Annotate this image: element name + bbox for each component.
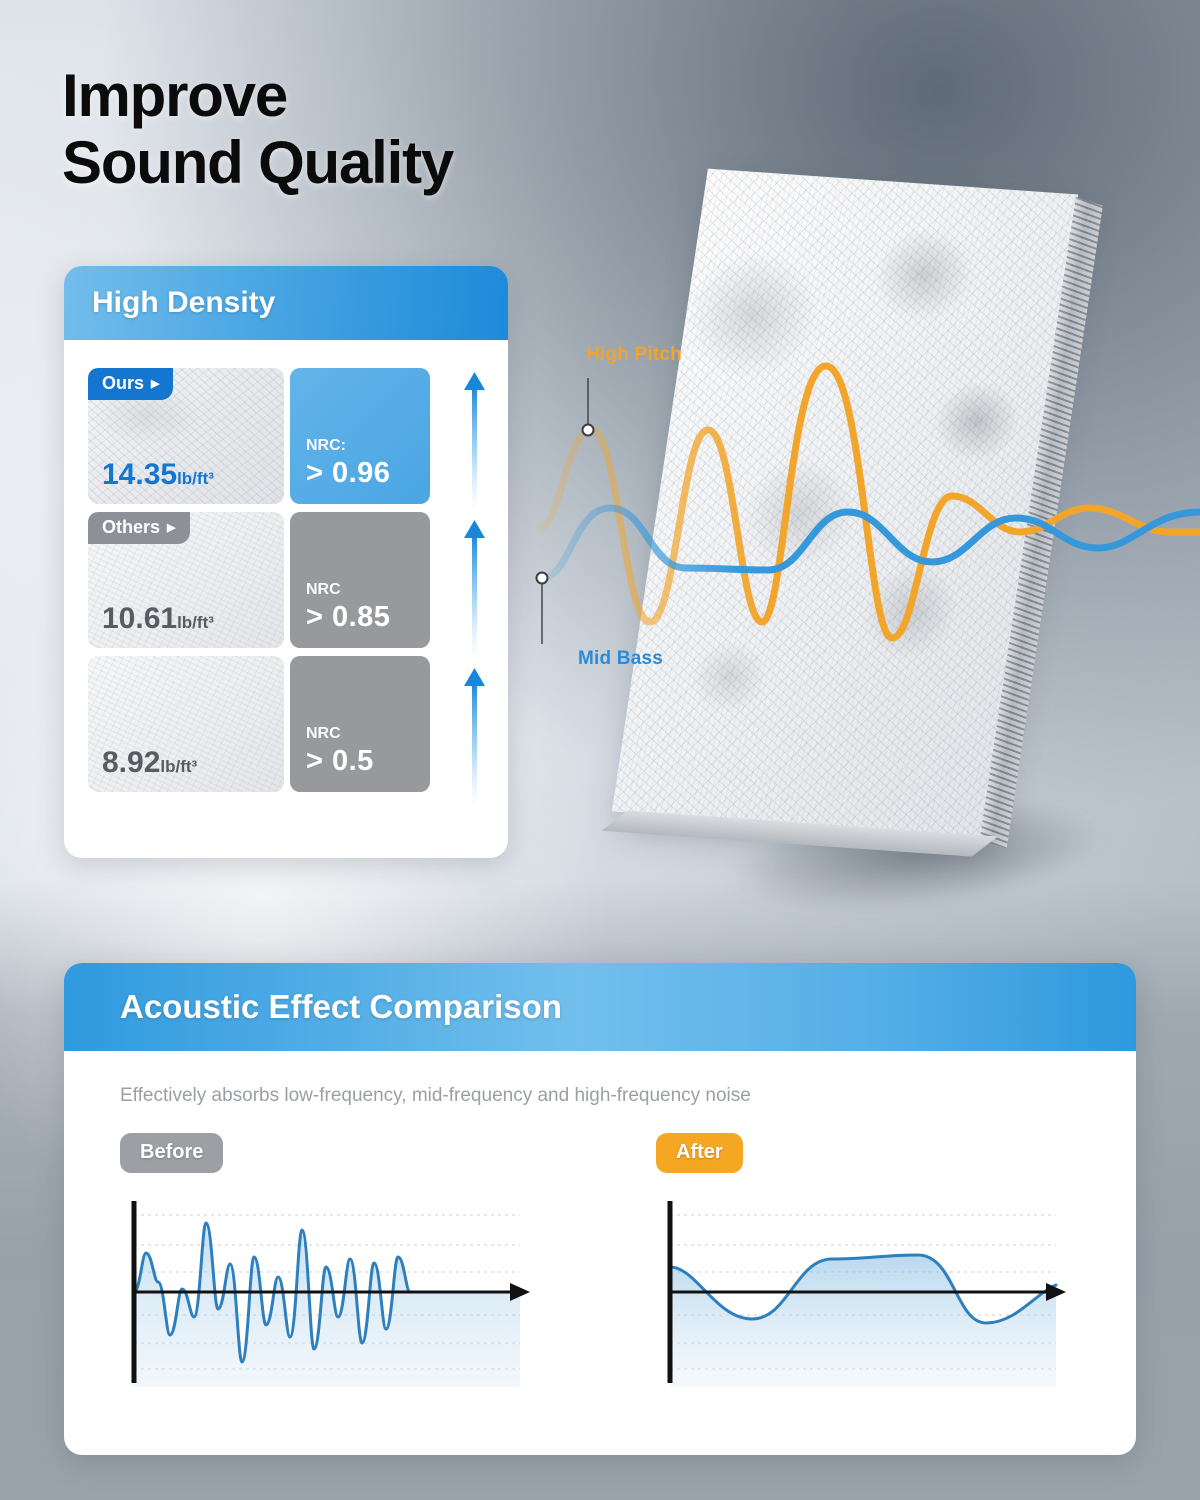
sound-wave-graphic [500,300,1200,720]
arrow-up-icon [464,520,485,656]
others-badge[interactable]: Others ▶ [88,512,190,544]
before-chart-column: Before [64,1133,600,1392]
density-number-others: 10.61 [102,602,177,635]
after-chart-column: After [600,1133,1136,1392]
others-badge-label: Others [102,517,160,538]
acoustic-charts-row: Before [64,1107,1136,1392]
density-value-third: 8.92lb/ft³ [88,746,197,792]
density-row-others: Others ▶ 10.61lb/ft³ NRC > 0.85 [88,512,486,648]
nrc-tile-ours: NRC: > 0.96 [290,368,430,504]
before-badge: Before [120,1133,223,1173]
high-pitch-waveform [540,366,1200,638]
density-scale-arrows [458,366,492,814]
nrc-value-ours: > 0.96 [306,457,430,490]
density-unit-third: lb/ft³ [160,757,197,776]
ours-badge[interactable]: Ours ▶ [88,368,173,400]
acoustic-effect-header: Acoustic Effect Comparison [64,963,1136,1051]
high-density-card: High Density Ours ▶ 14.35lb/ft³ NRC: > 0… [64,266,508,858]
density-number-ours: 14.35 [102,458,177,491]
nrc-tile-others: NRC > 0.85 [290,512,430,648]
density-number-third: 8.92 [102,746,160,779]
high-density-body: Ours ▶ 14.35lb/ft³ NRC: > 0.96 Others ▶ [64,340,508,822]
density-sample-image-ours: Ours ▶ 14.35lb/ft³ [88,368,284,504]
ours-badge-label: Ours [102,373,144,394]
density-sample-image-others: Others ▶ 10.61lb/ft³ [88,512,284,648]
page-title-line1: Improve [62,62,453,129]
nrc-label-third: NRC [306,725,430,743]
page-title-line2: Sound Quality [62,129,453,196]
density-sample-image-third: 8.92lb/ft³ [88,656,284,792]
caret-right-icon: ▶ [151,379,159,390]
density-value-others: 10.61lb/ft³ [88,602,214,648]
caret-right-icon: ▶ [167,523,175,534]
density-row-third: 8.92lb/ft³ NRC > 0.5 [88,656,486,792]
density-unit-ours: lb/ft³ [177,469,214,488]
nrc-label-ours: NRC: [306,437,430,455]
after-badge: After [656,1133,743,1173]
mid-bass-marker-dot [537,573,548,584]
nrc-label-others: NRC [306,581,430,599]
before-waveform-fill [134,1223,520,1387]
high-pitch-marker-dot [583,425,594,436]
arrow-up-icon [464,372,485,508]
after-waveform-chart [656,1197,1076,1387]
density-unit-others: lb/ft³ [177,613,214,632]
nrc-tile-third: NRC > 0.5 [290,656,430,792]
nrc-value-others: > 0.85 [306,601,430,634]
high-density-header: High Density [64,266,508,340]
density-row-ours: Ours ▶ 14.35lb/ft³ NRC: > 0.96 [88,368,486,504]
density-value-ours: 14.35lb/ft³ [88,458,214,504]
nrc-value-third: > 0.5 [306,745,430,778]
arrow-up-icon [464,668,485,804]
acoustic-effect-subtitle: Effectively absorbs low-frequency, mid-f… [64,1051,1136,1107]
before-waveform-chart [120,1197,540,1387]
acoustic-effect-card: Acoustic Effect Comparison Effectively a… [64,963,1136,1455]
page-title: Improve Sound Quality [62,62,453,196]
